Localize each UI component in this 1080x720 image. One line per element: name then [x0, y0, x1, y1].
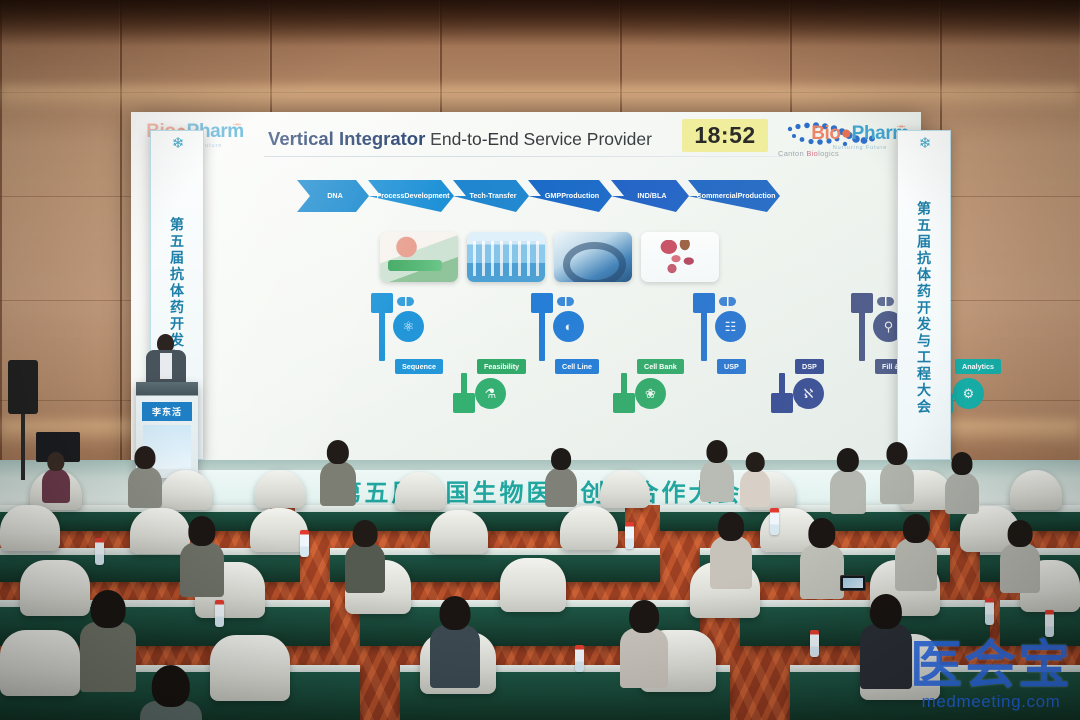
chevron-step-commercial-production: CommercialProduction	[688, 180, 780, 212]
slide-title-rest: End-to-End Service Provider	[425, 129, 652, 149]
person-head	[327, 440, 349, 464]
audience-chair	[0, 630, 80, 696]
logo-sparkle-icon: ··••··	[233, 122, 241, 129]
node-label: USP	[717, 359, 746, 374]
audience-chair	[430, 510, 488, 554]
ceiling-shadow	[0, 0, 1080, 46]
chevron-label-line: Commercial	[696, 192, 737, 200]
logo-dot-icon-right: ●	[841, 123, 852, 144]
chevron-label-line: Tech-	[469, 192, 488, 200]
person-head	[152, 665, 190, 707]
node-stem	[701, 311, 707, 361]
node-sequence-icon: ⚛	[393, 311, 424, 342]
audience-person	[140, 665, 202, 720]
person-body	[710, 536, 752, 589]
node-cap	[453, 393, 475, 413]
conference-photo-scene: ··••·· Bio●Pharm Nurturing Future Vertic…	[0, 0, 1080, 720]
person-head	[718, 512, 744, 541]
node-cell-bank-icon: ❀	[635, 378, 666, 409]
node-dsp-icon: ℵ	[793, 378, 824, 409]
chevron-step-dna: DNA	[297, 180, 369, 212]
node-stem	[379, 311, 385, 361]
audience-person	[860, 594, 912, 693]
person-head	[134, 446, 155, 469]
presentation-timer: 18:52	[682, 119, 768, 152]
person-head	[440, 596, 471, 630]
audience-person	[320, 440, 356, 508]
node-cap	[613, 393, 635, 413]
water-bottle	[625, 522, 634, 549]
person-body	[945, 472, 979, 515]
chevron-label-line: IND/BLA	[637, 192, 666, 200]
audience-person	[895, 514, 937, 594]
watermark-cn: 医会宝	[910, 642, 1072, 691]
bioreactor-suite-photo	[467, 232, 545, 282]
watermark: 医会宝 medmeeting.com	[910, 642, 1072, 712]
person-head	[886, 442, 907, 465]
biopharm-logo-right: ··••·· Bio●Pharm Nurturing Future	[809, 124, 911, 151]
water-bottle	[985, 598, 994, 625]
node-cap	[693, 293, 715, 313]
chevron-label-line: Process	[376, 192, 404, 200]
node-stem	[859, 311, 865, 361]
title-underline	[264, 156, 784, 157]
audience-person	[80, 590, 136, 696]
node-label: Cell Bank	[637, 359, 684, 374]
audience-chair	[560, 506, 618, 550]
person-body	[800, 544, 844, 599]
speaker-shirt	[160, 353, 172, 379]
centrifuge-equipment-photo	[554, 232, 632, 282]
audience-person	[710, 512, 752, 592]
chevron-label-line: Production	[561, 192, 599, 200]
person-body	[830, 469, 866, 514]
person-head	[746, 452, 765, 472]
speaker-person	[146, 334, 186, 388]
logo-tagline-right: Nurturing Future	[809, 145, 911, 151]
slide-title: Vertical Integrator End-to-End Service P…	[268, 128, 652, 150]
audience-person	[740, 452, 770, 509]
node-stem	[461, 373, 467, 395]
node-marker-icon	[557, 297, 574, 306]
person-body	[880, 462, 914, 505]
person-body	[128, 466, 162, 509]
audience-person	[830, 448, 866, 516]
audience-person	[1000, 520, 1040, 596]
audience-person	[620, 600, 668, 691]
person-body	[345, 543, 385, 593]
audience-person	[700, 440, 734, 505]
node-marker-icon	[877, 297, 894, 306]
audience-person	[800, 518, 844, 602]
pa-speaker-pole	[21, 414, 25, 480]
node-stem	[539, 311, 545, 361]
node-stem	[779, 373, 785, 395]
audience-person	[545, 448, 577, 509]
chevron-label-line: GMP	[545, 192, 561, 200]
node-feasibility-icon: ⚗	[475, 378, 506, 409]
person-body	[895, 538, 937, 591]
node-cap	[851, 293, 873, 313]
person-head	[903, 514, 929, 543]
logo-bio-text-right: Bio	[811, 123, 840, 144]
workflow-timeline: ⚛Sequence⚗Feasibility◐Cell Line❀Cell Ban…	[241, 297, 921, 422]
banner-ornament-icon-right: ❄	[919, 136, 930, 151]
node-cap	[531, 293, 553, 313]
person-head	[629, 600, 659, 633]
node-marker-icon	[397, 297, 414, 306]
person-head	[353, 520, 378, 547]
slide-header: ··••·· Bio●Pharm Nurturing Future Vertic…	[131, 112, 921, 164]
person-head	[91, 590, 126, 628]
chevron-label-line: DNA	[327, 192, 343, 200]
audience-person	[180, 516, 224, 600]
pa-speaker-stand	[8, 360, 38, 480]
chevron-label-line: Production	[738, 192, 776, 200]
person-body	[320, 461, 356, 506]
audience-person	[945, 452, 979, 517]
timer-value: 18:52	[694, 122, 755, 149]
person-head	[706, 440, 727, 463]
audience-person	[430, 596, 480, 691]
banner-ornament-icon: ❄	[172, 136, 183, 151]
chevron-step-ind-bla: IND/BLA	[611, 180, 689, 212]
person-head	[870, 594, 902, 629]
audience-person	[880, 442, 914, 507]
chevron-label-line: Transfer	[488, 192, 516, 200]
person-head	[837, 448, 859, 472]
water-bottle	[770, 508, 779, 535]
node-stem	[621, 373, 627, 395]
projection-screen: ··••·· Bio●Pharm Nurturing Future Vertic…	[131, 112, 921, 487]
water-bottle	[95, 538, 104, 565]
water-bottle	[1045, 610, 1054, 637]
node-cell-line-icon: ◐	[553, 311, 584, 342]
stage-banner-right: ❄ 第五届抗体药开发与工程大会	[897, 130, 951, 460]
person-body	[1000, 543, 1040, 593]
person-body	[740, 469, 770, 507]
node-label: DSP	[795, 359, 824, 374]
node-label: Analytics	[955, 359, 1001, 374]
person-head	[47, 452, 64, 471]
person-head	[188, 516, 215, 546]
audience-chair	[500, 558, 566, 612]
node-cap	[371, 293, 393, 313]
audience-chair	[0, 505, 60, 551]
audience-person	[345, 520, 385, 596]
chevron-step-tech-transfer: Tech-Transfer	[453, 180, 529, 212]
audience-phone	[840, 575, 866, 591]
lab-photo-strip	[380, 232, 719, 282]
person-body	[545, 467, 577, 507]
person-head	[551, 448, 571, 470]
audience-person	[128, 446, 162, 511]
node-label: Sequence	[395, 359, 443, 374]
person-head	[1008, 520, 1033, 547]
node-usp-icon: ☷	[715, 311, 746, 342]
person-body	[620, 628, 668, 688]
pa-speaker-box	[8, 360, 38, 414]
sponsor-name-a: Canton	[778, 149, 806, 158]
person-body	[42, 468, 70, 503]
chevron-step-gmp-production: GMPProduction	[528, 180, 612, 212]
pipetting-samples-photo	[380, 232, 458, 282]
podium-nameplate: 李东活	[142, 402, 192, 421]
person-body	[180, 542, 224, 597]
node-label: Cell Line	[555, 359, 599, 374]
node-marker-icon	[719, 297, 736, 306]
water-bottle	[215, 600, 224, 627]
person-body	[860, 624, 912, 689]
slide-title-strong: Vertical Integrator	[268, 128, 425, 149]
water-bottle	[810, 630, 819, 657]
person-body	[700, 460, 734, 503]
watermark-en: medmeeting.com	[910, 692, 1072, 712]
chevron-step-process-development: ProcessDevelopment	[368, 180, 454, 212]
water-bottle	[300, 530, 309, 557]
node-analytics-icon: ⚙	[953, 378, 984, 409]
person-body	[430, 625, 480, 688]
person-head	[951, 452, 972, 475]
chevron-label-line: Development	[404, 192, 449, 200]
person-body	[80, 622, 136, 692]
vials-syringes-photo	[641, 232, 719, 282]
node-label: Feasibility	[477, 359, 526, 374]
node-cap	[771, 393, 793, 413]
person-head	[808, 518, 835, 548]
water-bottle	[575, 645, 584, 672]
process-chevron-row: DNAProcessDevelopmentTech-TransferGMPPro…	[297, 180, 779, 212]
audience-chair	[210, 635, 290, 701]
stage-banner-right-text: 第五届抗体药开发与工程大会	[917, 153, 931, 459]
audience-person	[42, 452, 70, 505]
